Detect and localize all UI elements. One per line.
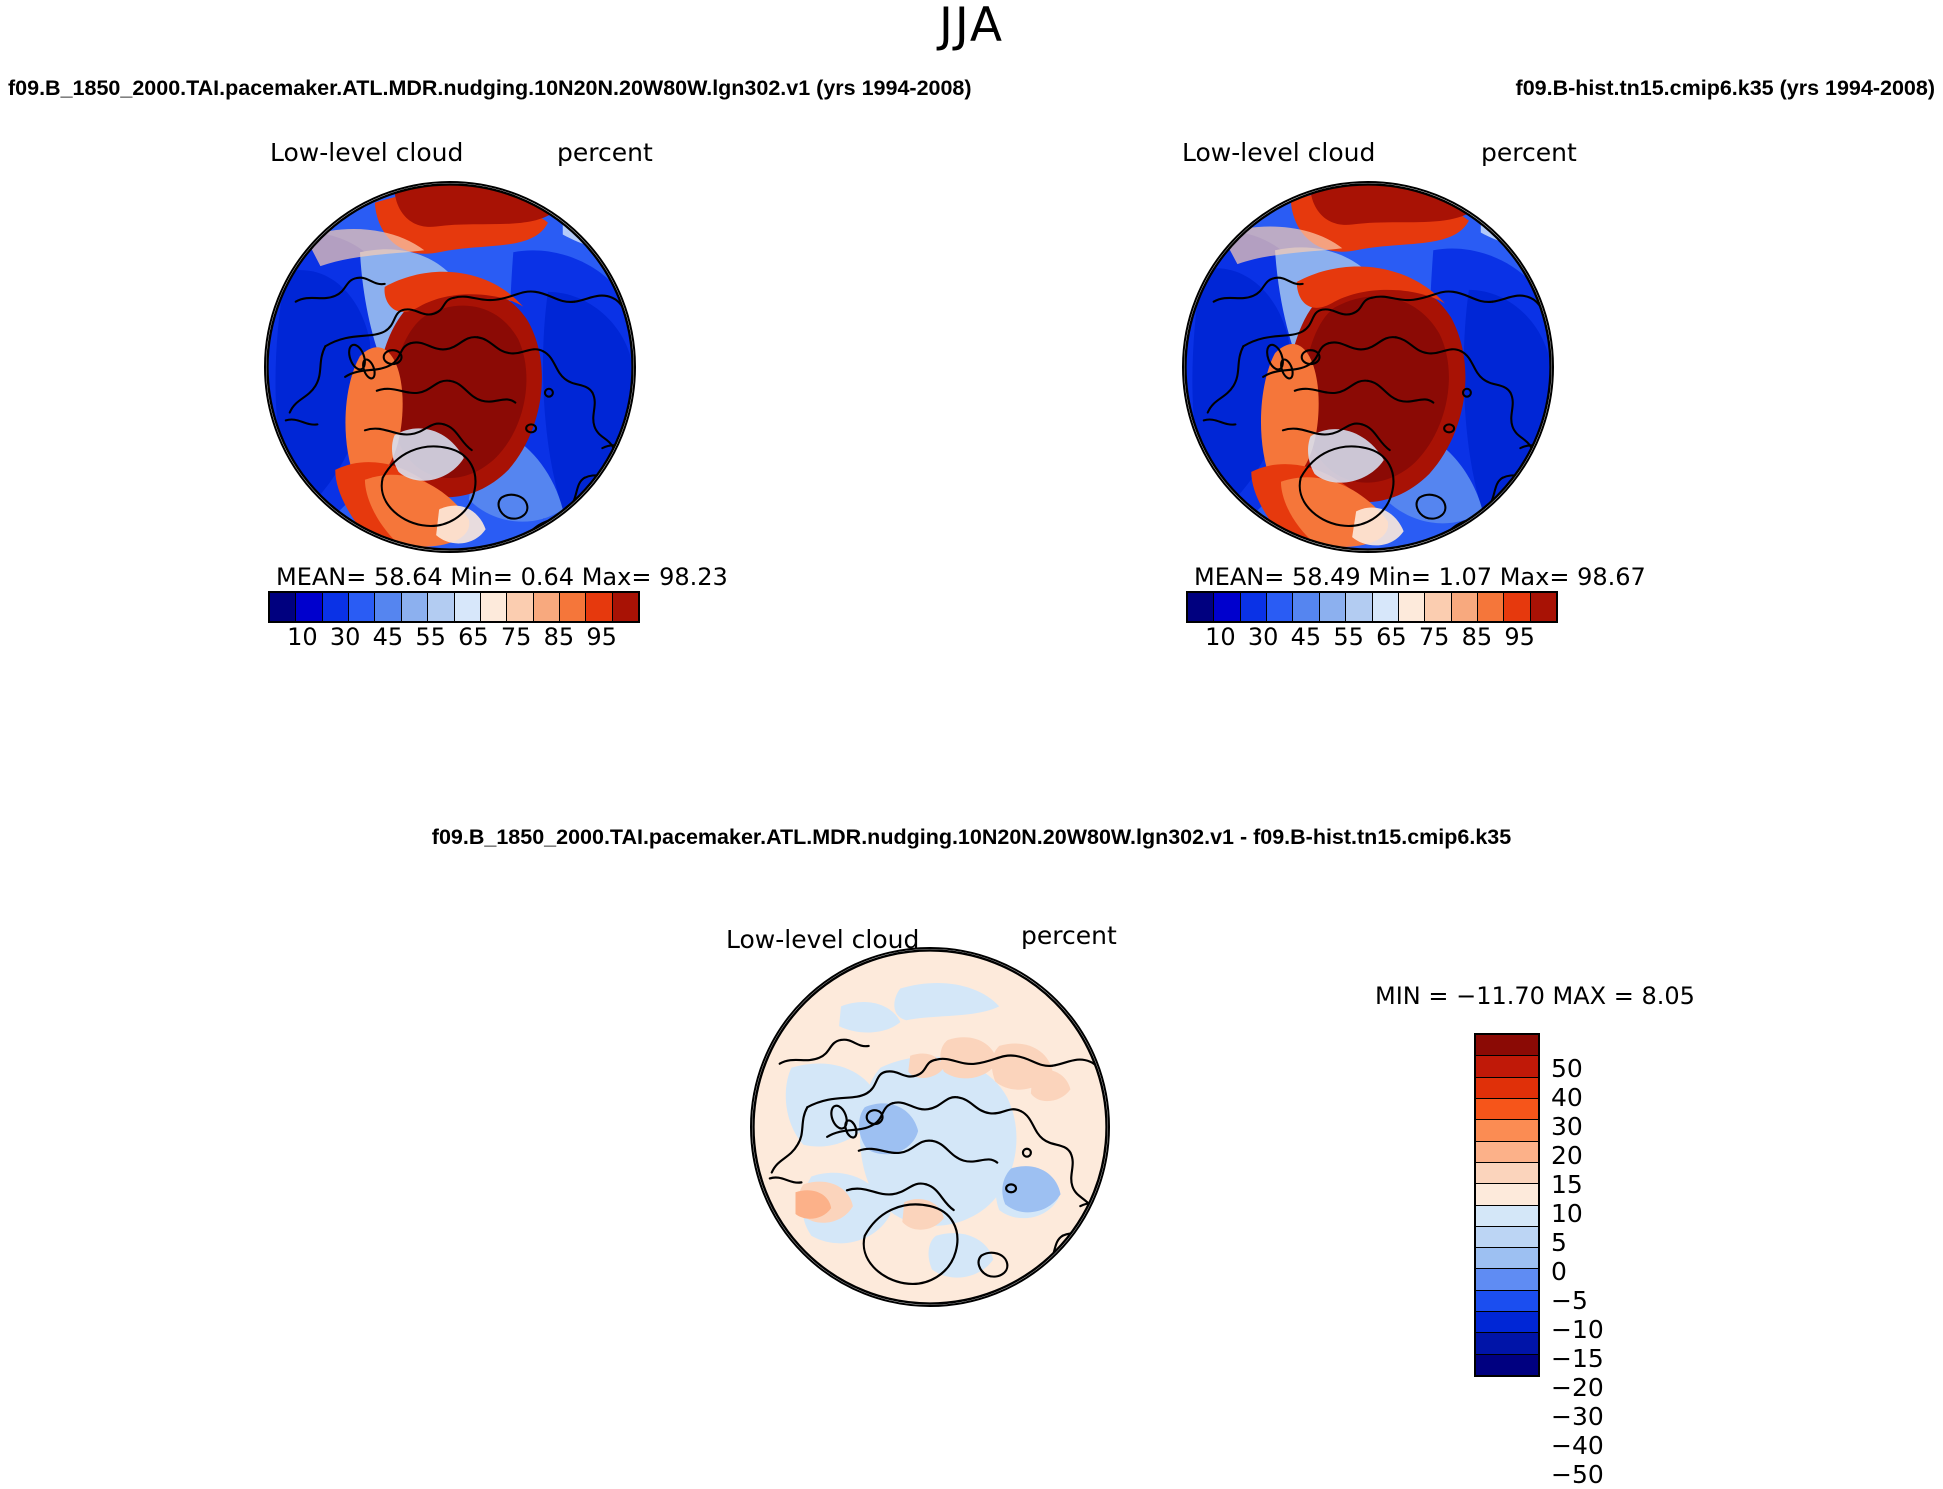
tick-label: 65 bbox=[452, 623, 495, 651]
left-polar-map[interactable] bbox=[264, 181, 636, 553]
right-polar-map[interactable] bbox=[1182, 181, 1554, 553]
colorbar-cell bbox=[1476, 1142, 1538, 1163]
tick-label: −10 bbox=[1551, 1315, 1604, 1344]
difference-colorbar[interactable] bbox=[1474, 1033, 1540, 1377]
tick-label: 30 bbox=[324, 623, 367, 651]
colorbar-cell bbox=[1504, 593, 1530, 621]
difference-colorbar-ticks: 50 40 30 20 15 10 5 0 −5 −10 −15 −20 −30… bbox=[1551, 1054, 1604, 1352]
tick-label: 20 bbox=[1551, 1141, 1604, 1170]
tick-label: 85 bbox=[1456, 623, 1499, 651]
tick-label: −20 bbox=[1551, 1373, 1604, 1402]
colorbar-cell bbox=[1476, 1163, 1538, 1184]
tick-label: 85 bbox=[538, 623, 581, 651]
tick-label: 75 bbox=[495, 623, 538, 651]
colorbar-cell bbox=[1476, 1355, 1538, 1375]
tick-label: 55 bbox=[1327, 623, 1370, 651]
colorbar-cell bbox=[481, 593, 507, 621]
right-panel-title: f09.B-hist.tn15.cmip6.k35 (yrs 1994-2008… bbox=[1516, 76, 1935, 101]
colorbar-cell bbox=[1476, 1120, 1538, 1141]
left-panel-title: f09.B_1850_2000.TAI.pacemaker.ATL.MDR.nu… bbox=[8, 76, 972, 101]
left-panel-stats: MEAN= 58.64 Min= 0.64 Max= 98.23 bbox=[276, 563, 728, 591]
colorbar-cell bbox=[1476, 1248, 1538, 1269]
colorbar-cell bbox=[613, 593, 638, 621]
tick-label: 45 bbox=[1285, 623, 1328, 651]
tick-label: 5 bbox=[1551, 1228, 1604, 1257]
tick-label: 10 bbox=[1551, 1199, 1604, 1228]
colorbar-cell bbox=[1476, 1269, 1538, 1290]
colorbar-cell bbox=[507, 593, 533, 621]
figure-season-title: JJA bbox=[0, 2, 1943, 49]
tick-label: −50 bbox=[1551, 1460, 1604, 1489]
tick-label: 45 bbox=[367, 623, 410, 651]
colorbar-cell bbox=[1476, 1099, 1538, 1120]
tick-label: −5 bbox=[1551, 1286, 1604, 1315]
colorbar-cell bbox=[296, 593, 322, 621]
colorbar-cell bbox=[1476, 1078, 1538, 1099]
left-colorbar-ticks: 10 30 45 55 65 75 85 95 bbox=[281, 623, 623, 651]
difference-minmax-stats: MIN = −11.70 MAX = 8.05 bbox=[1375, 982, 1695, 1010]
colorbar-cell bbox=[1346, 593, 1372, 621]
difference-polar-map[interactable] bbox=[750, 947, 1110, 1307]
colorbar-cell bbox=[323, 593, 349, 621]
colorbar-cell bbox=[586, 593, 612, 621]
left-colorbar[interactable] bbox=[268, 591, 640, 623]
tick-label: 50 bbox=[1551, 1054, 1604, 1083]
colorbar-cell bbox=[1476, 1291, 1538, 1312]
tick-label: 15 bbox=[1551, 1170, 1604, 1199]
tick-label: 0 bbox=[1551, 1257, 1604, 1286]
colorbar-cell bbox=[455, 593, 481, 621]
colorbar-cell bbox=[375, 593, 401, 621]
tick-label: −30 bbox=[1551, 1402, 1604, 1431]
right-colorbar[interactable] bbox=[1186, 591, 1558, 623]
right-panel-variable-label: Low-level cloud bbox=[1182, 138, 1375, 167]
tick-label: 95 bbox=[1498, 623, 1541, 651]
tick-label: 55 bbox=[409, 623, 452, 651]
tick-label: −40 bbox=[1551, 1431, 1604, 1460]
colorbar-cell bbox=[1293, 593, 1319, 621]
tick-label: 30 bbox=[1242, 623, 1285, 651]
difference-variable-label: Low-level cloud bbox=[726, 925, 919, 954]
colorbar-cell bbox=[402, 593, 428, 621]
colorbar-cell bbox=[1320, 593, 1346, 621]
colorbar-cell bbox=[560, 593, 586, 621]
colorbar-cell bbox=[1188, 593, 1214, 621]
tick-label: 75 bbox=[1413, 623, 1456, 651]
colorbar-cell bbox=[534, 593, 560, 621]
colorbar-cell bbox=[1531, 593, 1556, 621]
right-panel-stats: MEAN= 58.49 Min= 1.07 Max= 98.67 bbox=[1194, 563, 1646, 591]
colorbar-cell bbox=[1214, 593, 1240, 621]
colorbar-cell bbox=[1267, 593, 1293, 621]
colorbar-cell bbox=[1373, 593, 1399, 621]
left-panel-units-label: percent bbox=[557, 138, 653, 167]
colorbar-cell bbox=[1476, 1184, 1538, 1205]
colorbar-cell bbox=[1399, 593, 1425, 621]
colorbar-cell bbox=[1478, 593, 1504, 621]
colorbar-cell bbox=[1476, 1056, 1538, 1077]
tick-label: 30 bbox=[1551, 1112, 1604, 1141]
colorbar-cell bbox=[1241, 593, 1267, 621]
colorbar-cell bbox=[1476, 1035, 1538, 1056]
tick-label: −15 bbox=[1551, 1344, 1604, 1373]
colorbar-cell bbox=[270, 593, 296, 621]
tick-label: 10 bbox=[281, 623, 324, 651]
left-panel-variable-label: Low-level cloud bbox=[270, 138, 463, 167]
tick-label: 95 bbox=[580, 623, 623, 651]
right-colorbar-ticks: 10 30 45 55 65 75 85 95 bbox=[1199, 623, 1541, 651]
colorbar-cell bbox=[1476, 1312, 1538, 1333]
tick-label: 10 bbox=[1199, 623, 1242, 651]
colorbar-cell bbox=[428, 593, 454, 621]
colorbar-cell bbox=[1476, 1206, 1538, 1227]
colorbar-cell bbox=[1425, 593, 1451, 621]
colorbar-cell bbox=[349, 593, 375, 621]
right-panel-units-label: percent bbox=[1481, 138, 1577, 167]
tick-label: 65 bbox=[1370, 623, 1413, 651]
colorbar-cell bbox=[1476, 1227, 1538, 1248]
colorbar-cell bbox=[1452, 593, 1478, 621]
difference-panel-title: f09.B_1850_2000.TAI.pacemaker.ATL.MDR.nu… bbox=[0, 825, 1943, 850]
tick-label: 40 bbox=[1551, 1083, 1604, 1112]
difference-units-label: percent bbox=[1021, 921, 1117, 950]
colorbar-cell bbox=[1476, 1333, 1538, 1354]
